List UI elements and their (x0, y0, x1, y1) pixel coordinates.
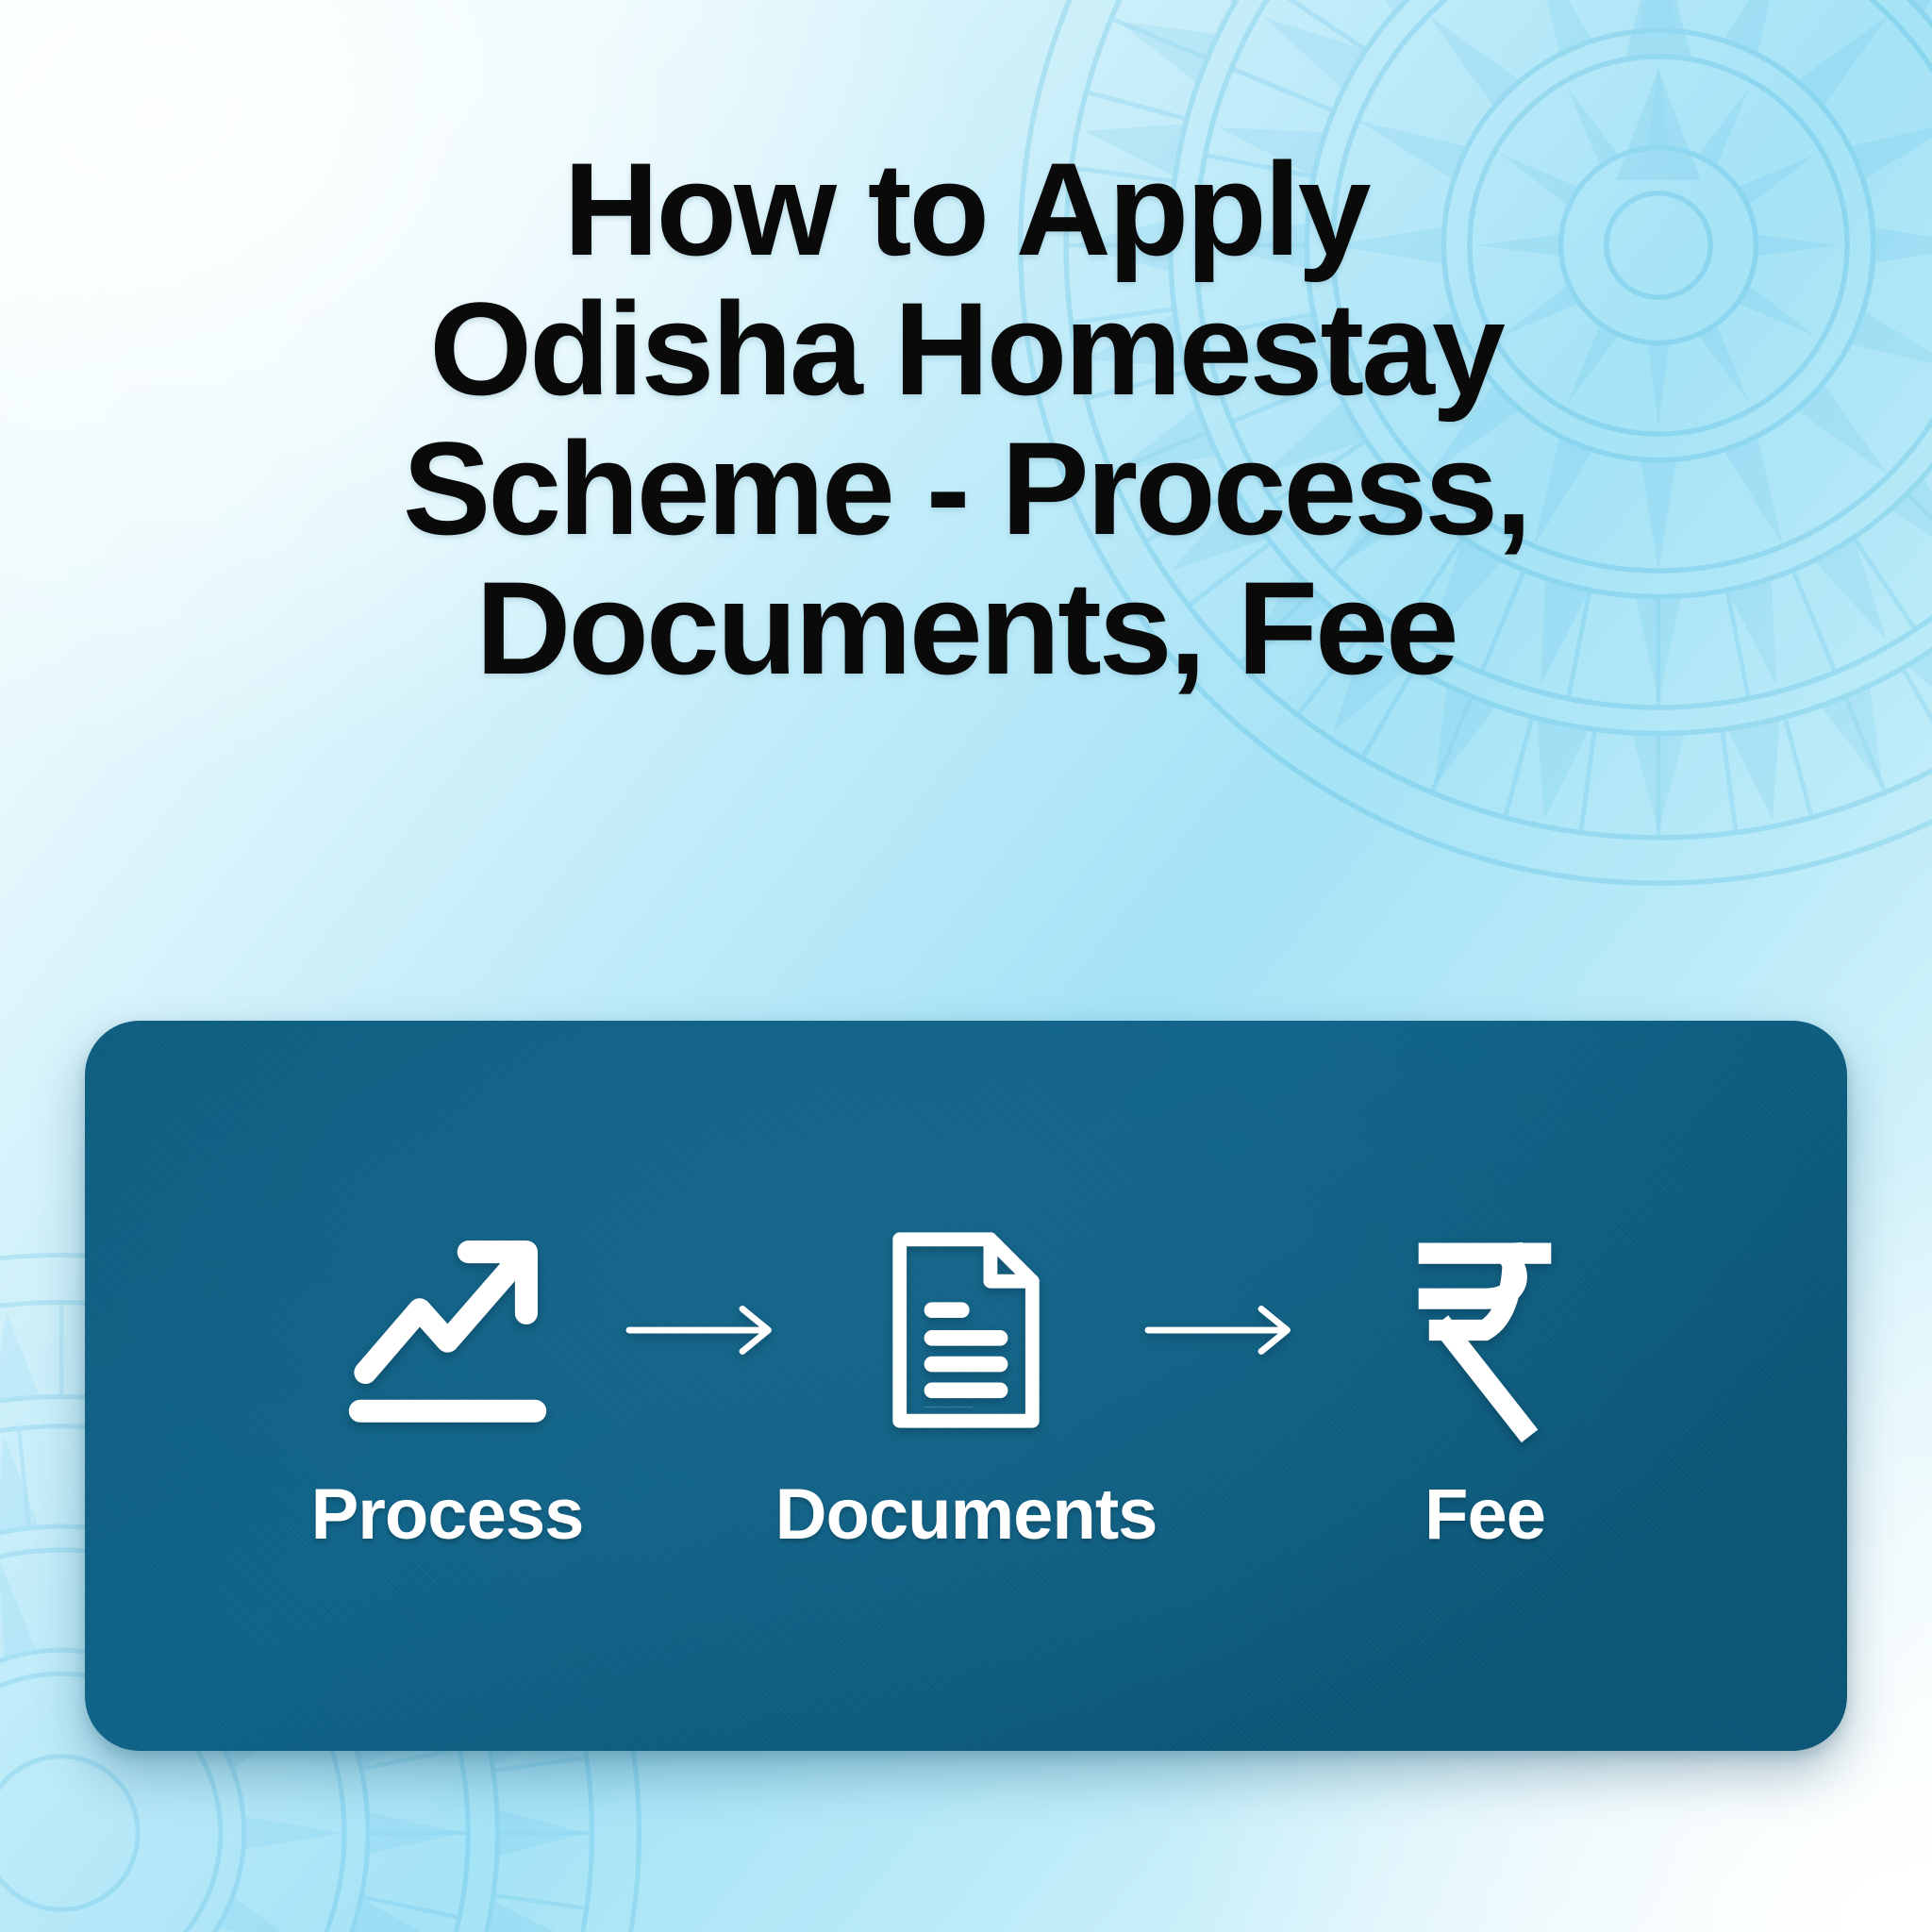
connector-2 (1126, 1217, 1324, 1443)
arrow-right-icon (625, 1302, 790, 1358)
steps-card: Process (85, 1021, 1847, 1751)
steps-row: Process (85, 1217, 1847, 1555)
fee-icon-wrap (1414, 1217, 1556, 1443)
indian-rupee-icon (1414, 1225, 1556, 1435)
step-label-fee: Fee (1424, 1475, 1545, 1555)
process-icon-wrap (341, 1217, 554, 1443)
page-title: How to Apply Odisha Homestay Scheme - Pr… (0, 140, 1932, 698)
step-process: Process (287, 1217, 608, 1555)
title-line-2: Odisha Homestay (113, 279, 1819, 419)
step-label-process: Process (311, 1475, 584, 1555)
step-label-documents: Documents (775, 1475, 1158, 1555)
arrow-right-icon (1143, 1302, 1308, 1358)
step-documents: Documents (806, 1217, 1126, 1555)
connector-1 (608, 1217, 806, 1443)
documents-icon-wrap (882, 1217, 1050, 1443)
title-line-3: Scheme - Process, (113, 419, 1819, 558)
title-line-1: How to Apply (113, 140, 1819, 279)
step-fee: Fee (1324, 1217, 1645, 1555)
title-line-4: Documents, Fee (113, 558, 1819, 698)
infographic-canvas: How to Apply Odisha Homestay Scheme - Pr… (0, 0, 1932, 1932)
growth-arrow-chart-icon (341, 1229, 554, 1432)
document-page-icon (882, 1225, 1050, 1435)
